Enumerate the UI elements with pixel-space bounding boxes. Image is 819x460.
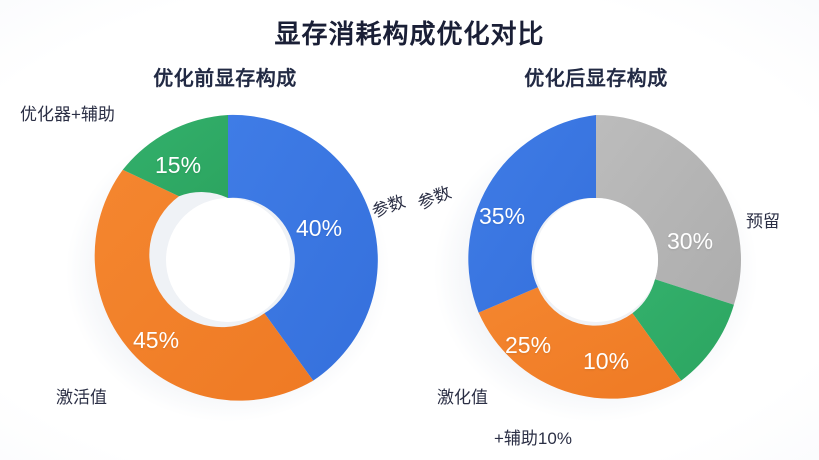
right-label-reserved: 预留: [746, 207, 780, 232]
right-value-activation: 25%: [505, 332, 551, 359]
right-value-reserved: 30%: [667, 228, 713, 255]
chart-canvas: 显存消耗构成优化对比 优化前显存构成 优化后显存构成: [0, 0, 819, 460]
right-label-activation: 激化值: [437, 383, 488, 408]
right-value-aux: 10%: [583, 348, 629, 375]
right-value-param: 35%: [479, 203, 525, 230]
right-label-aux: +辅助10%: [494, 424, 572, 449]
